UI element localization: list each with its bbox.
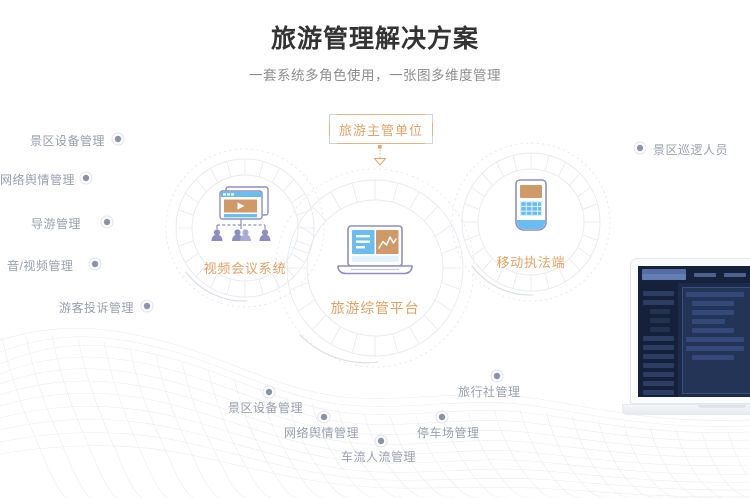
sidebar-row[interactable] (643, 336, 674, 341)
panel-row (686, 346, 744, 351)
panel-row (692, 310, 734, 315)
corner-br (425, 136, 433, 144)
sidebar-subrow[interactable] (650, 309, 670, 314)
panel-row (686, 337, 744, 342)
page-subtitle: 一套系统多角色使用，一张图多维度管理 (0, 67, 750, 85)
panel-row (692, 319, 725, 324)
handheld-device-icon (468, 178, 594, 240)
sidebar-row[interactable] (643, 381, 674, 386)
dashboard-body (638, 283, 750, 397)
panel-row (692, 328, 734, 333)
dashboard-laptop-mockup (622, 258, 750, 458)
laptop-screen (630, 258, 750, 404)
panel-row (692, 301, 734, 306)
endpoint-bottom-1[interactable]: 景区设备管理 (228, 399, 303, 416)
node-tourism-platform[interactable]: 旅游综管平台 (305, 222, 445, 318)
dashboard-nav-item[interactable] (694, 273, 716, 277)
dashboard-main (678, 283, 750, 397)
dashboard-ui (638, 266, 750, 397)
endpoint-left-3[interactable]: 导游管理 (31, 215, 81, 232)
sidebar-row[interactable] (643, 363, 674, 368)
sidebar-subrow[interactable] (650, 327, 670, 332)
node-video-conference[interactable]: 视频会议系统 (182, 184, 308, 277)
authority-label: 旅游主管单位 (339, 120, 423, 139)
laptop-dashboard-icon (305, 222, 445, 284)
endpoint-left-2[interactable]: 网络舆情管理 (0, 171, 75, 188)
endpoint-left-4[interactable]: 音/视频管理 (7, 257, 73, 274)
sidebar-row[interactable] (643, 372, 674, 377)
panel-row (692, 355, 734, 360)
laptop-notch (698, 405, 746, 408)
dashboard-sidebar (638, 283, 678, 397)
dashboard-nav-item[interactable] (724, 273, 746, 277)
tourism-solution-infographic: 旅游管理解决方案 一套系统多角色使用，一张图多维度管理 (0, 0, 750, 498)
page-title: 旅游管理解决方案 (0, 24, 750, 54)
node-mobile-enforcement[interactable]: 移动执法端 (468, 178, 594, 271)
sidebar-row[interactable] (643, 390, 674, 395)
panel-row (686, 292, 744, 297)
endpoint-bottom-5[interactable]: 旅行社管理 (458, 383, 521, 400)
node-label-video-conference: 视频会议系统 (182, 258, 308, 277)
sidebar-row[interactable] (643, 291, 674, 296)
node-label-tourism-platform: 旅游综管平台 (305, 298, 445, 318)
sidebar-row[interactable] (643, 345, 674, 350)
dotted-down-arrow-icon (375, 145, 386, 165)
video-conference-icon (182, 184, 308, 246)
endpoint-bottom-4[interactable]: 停车场管理 (417, 424, 480, 441)
dashboard-brand (642, 269, 686, 280)
endpoint-left-1[interactable]: 景区设备管理 (30, 132, 105, 149)
dashboard-topbar (638, 266, 750, 283)
sidebar-row[interactable] (643, 300, 674, 305)
corner-bl (329, 136, 337, 144)
endpoint-bottom-3[interactable]: 车流人流管理 (341, 448, 416, 465)
header: 旅游管理解决方案 一套系统多角色使用，一张图多维度管理 (0, 24, 750, 85)
corner-tr (425, 114, 433, 122)
corner-tl (329, 114, 337, 122)
endpoint-right-1[interactable]: 景区巡逻人员 (653, 141, 728, 158)
sidebar-row[interactable] (643, 354, 674, 359)
endpoint-left-5[interactable]: 游客投诉管理 (59, 299, 134, 316)
authority-box[interactable]: 旅游主管单位 (329, 114, 433, 144)
node-label-mobile-enforcement: 移动执法端 (468, 252, 594, 271)
endpoint-bottom-2[interactable]: 网络舆情管理 (284, 424, 359, 441)
sidebar-subrow-active[interactable] (650, 318, 670, 323)
dashboard-panel (682, 287, 750, 394)
